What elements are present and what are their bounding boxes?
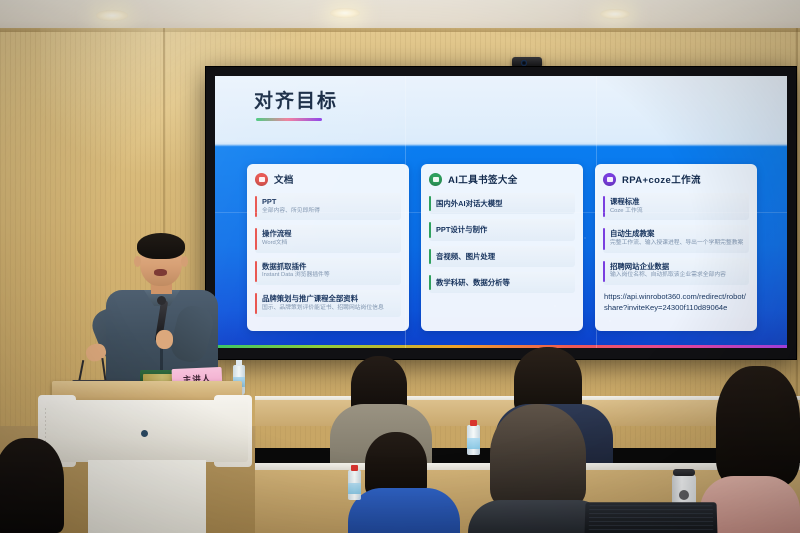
slide-column-rpa-coze: RPA+coze工作流 课程标准 Coze 工作流 自动生成教案 完整工作流、输… [595,164,757,331]
list-item: 数据抓取插件 Instant Data 浏览器插件等 [255,258,401,285]
column-header: 文档 [255,172,401,186]
presenter-ear [181,256,188,267]
slide-accent-bar [215,345,787,348]
lectern-column [88,460,206,533]
water-bottle [467,425,480,455]
list-item: PPT设计与制作 [429,219,575,240]
bookmark-icon [429,173,442,186]
item-title: 操作流程 [262,229,396,238]
ceiling-light [96,10,128,21]
ceiling-light [600,9,630,19]
laptop-screen [589,505,714,530]
item-subtitle: 国示、品牌策划评价能证书、招聘网站岗位信息 [262,305,396,313]
column-header: RPA+coze工作流 [603,172,749,186]
workflow-icon [603,173,616,186]
item-title: 自动生成教案 [610,229,744,238]
item-subtitle: Word文档 [262,240,396,248]
item-title: 招聘网站企业数据 [610,262,744,271]
item-title: 国内外AI对话大模型 [436,199,570,208]
list-item: 音视频、图片处理 [429,246,575,267]
column-header: AI工具书签大全 [429,172,575,186]
share-url: https://api.winrobot360.com/redirect/rob… [603,290,749,313]
item-subtitle: 输入岗位名称、自动抓取该企业需求全部内容 [610,272,744,280]
list-item: 品牌策划与推广课程全部资料 国示、品牌策划评价能证书、招聘网站岗位信息 [255,290,401,317]
item-title: 数据抓取插件 [262,262,396,271]
column-title: RPA+coze工作流 [622,172,701,186]
laptop [585,502,718,533]
list-item: 教学科研、数据分析等 [429,272,575,293]
panel-seam [215,212,787,213]
column-title: AI工具书签大全 [448,172,518,186]
title-underline [256,118,322,121]
item-title: PPT设计与制作 [436,225,570,234]
item-title: 音视频、图片处理 [436,252,570,261]
audience-person-3-shoulders [348,488,460,533]
item-title: 教学科研、数据分析等 [436,278,570,287]
audience-person-6 [0,438,64,533]
slide-title: 对齐目标 [254,92,338,111]
presenter-right-hand [156,330,173,349]
list-item: 自动生成教案 完整工作流、输入授课进程、导出一个学期完整教案 [603,225,749,252]
bottle-cap [470,420,477,426]
item-subtitle: 完整工作流、输入授课进程、导出一个学期完整教案 [610,240,744,248]
audience-person-5 [716,366,800,486]
document-icon [255,173,268,186]
list-item: PPT 全部内容、所见即所得 [255,193,401,220]
bottle-label [467,438,480,449]
list-item: 招聘网站企业数据 输入岗位名称、自动抓取该企业需求全部内容 [603,258,749,285]
water-bottle [348,470,361,500]
item-title: 课程标准 [610,197,744,206]
presenter-mouth [154,269,167,276]
list-item: 操作流程 Word文档 [255,225,401,252]
bottle-label [348,483,361,494]
lectern-knob [141,430,148,437]
slide-column-document: 文档 PPT 全部内容、所见即所得 操作流程 Word文档 数据抓取插件 I [247,164,409,331]
item-title: PPT [262,197,396,206]
conference-room-photo: 对齐目标 文档 PPT 全部内容、所见即所得 [0,0,800,533]
slide-columns: 文档 PPT 全部内容、所见即所得 操作流程 Word文档 数据抓取插件 I [247,164,757,331]
ceiling-light [330,8,360,18]
bottle-cap [351,465,358,471]
item-subtitle: Instant Data 浏览器插件等 [262,272,396,280]
slide-column-ai-bookmarks: AI工具书签大全 国内外AI对话大模型 PPT设计与制作 音视频、图片处理 教学 [421,164,583,331]
microphone-head [157,296,166,305]
presenter-hair [137,233,185,259]
slide-header: 对齐目标 [215,76,787,148]
item-title: 品牌策划与推广课程全部资料 [262,294,396,303]
audience-person-4 [490,404,586,508]
list-item: 课程标准 Coze 工作流 [603,193,749,220]
screen: 对齐目标 文档 PPT 全部内容、所见即所得 [215,76,787,348]
video-wall-display: 对齐目标 文档 PPT 全部内容、所见即所得 [205,66,797,360]
column-title: 文档 [274,172,294,186]
presenter-ear [134,256,141,267]
